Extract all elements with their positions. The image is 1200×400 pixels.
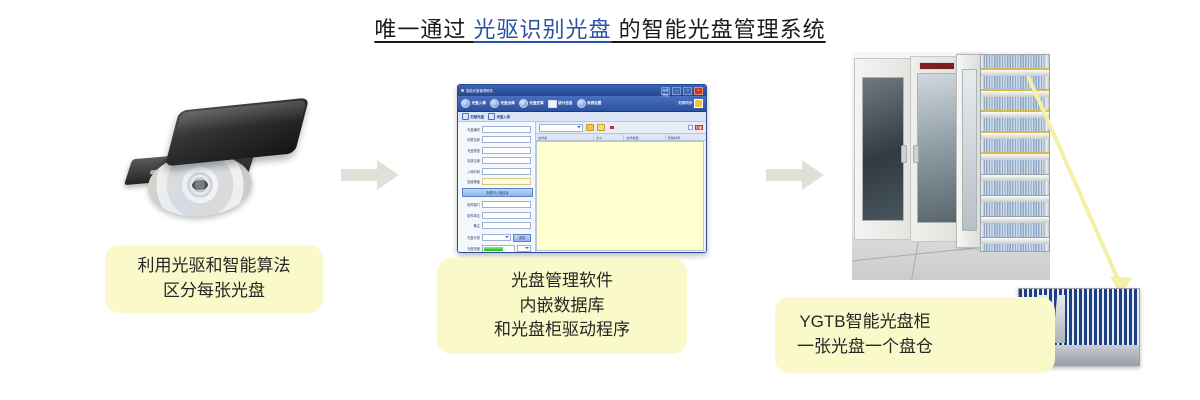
file-browser-panel: 只读 文件名 大小 文件类型 修改时间 — [536, 122, 706, 253]
field-label: 光盘分类 — [462, 235, 480, 240]
progress-fill — [484, 247, 503, 252]
page-title: 唯一通过 光驱识别光盘 的智能光盘管理系统 — [0, 12, 1200, 44]
entry-form-panel: 光盘编号 标签名称 光盘类型 存放位置 入库时间 密级等级 刻录写入盘信息 制作… — [458, 122, 536, 253]
door-handle-middle — [913, 145, 919, 163]
app-logo-icon — [461, 89, 464, 92]
glass-door-middle — [917, 73, 957, 223]
toolbar-label: 光盘还库 — [529, 101, 543, 106]
disc-slot-rack — [980, 54, 1050, 252]
sub-toolbar: 扫描光盘 光盘入库 — [458, 112, 706, 122]
disc-in-icon — [461, 99, 470, 108]
toolbar-item-stats[interactable]: 统计信息 — [548, 100, 573, 108]
subbar-label: 光盘入库 — [497, 114, 511, 119]
close-button[interactable]: ✕ — [694, 87, 703, 95]
external-dvd-drive-photo — [112, 102, 312, 222]
field-label: 标签名称 — [462, 137, 480, 142]
toolbar-item-settings[interactable]: 系统设置 — [577, 99, 602, 108]
window-title: 智能光盘管理软件 — [466, 88, 659, 93]
column-header-type: 文件类型 — [624, 135, 665, 140]
disc-return-icon — [519, 99, 528, 108]
drive-body — [165, 98, 310, 167]
form-row-category: 光盘分类 浏览 — [462, 234, 531, 242]
open-door-glass — [962, 69, 977, 231]
location-input[interactable] — [482, 157, 531, 164]
disc-out-icon — [490, 99, 499, 108]
file-list[interactable] — [536, 141, 704, 251]
remark-input[interactable] — [482, 222, 531, 229]
minimize-button[interactable]: — — [672, 87, 681, 95]
disc-type-input[interactable] — [482, 147, 531, 154]
cabinet-name-plate — [919, 62, 955, 70]
shelf-bar — [981, 216, 1049, 223]
form-row: 存放位置 — [462, 157, 531, 164]
disc-progress-bar — [482, 245, 515, 253]
form-row-progress: 光盘进度 — [462, 245, 531, 253]
field-label: 光盘进度 — [462, 246, 480, 251]
shelf-bar — [981, 237, 1049, 244]
field-label: 备注 — [462, 223, 480, 228]
window-title-bar: 智能光盘管理软件 在线状态 — ▭ ✕ — [458, 85, 706, 96]
form-row: 制作部门 — [462, 201, 531, 208]
status-badge: 在线状态 — [661, 87, 670, 95]
shelf-bar — [981, 132, 1049, 139]
callout-box-cabinet: YGTB智能光盘柜 一张光盘一个盘仓 — [775, 297, 1055, 373]
folder-icon[interactable] — [586, 124, 594, 131]
shelf-bar — [981, 195, 1049, 202]
toolbar-item-disc-out[interactable]: 光盘出库 — [490, 99, 515, 108]
readonly-toggle[interactable]: 只读 — [688, 125, 703, 131]
subbar-label: 扫描光盘 — [471, 114, 485, 119]
browse-button[interactable]: 浏览 — [513, 234, 531, 242]
field-label: 光盘编号 — [462, 127, 480, 132]
gear-icon — [577, 99, 586, 108]
form-row: 入库时间 — [462, 168, 531, 175]
door-handle-left — [901, 145, 907, 163]
disc-icon — [488, 113, 495, 120]
cabinet-unit-left — [854, 58, 912, 240]
checkbox-box-icon — [688, 125, 694, 131]
unit-input[interactable] — [482, 212, 531, 219]
shelf-bar — [981, 153, 1049, 160]
shelf-bar — [981, 90, 1049, 97]
flow-arrow-right-2 — [766, 160, 824, 190]
toolbar-label: 光盘入库 — [472, 101, 486, 106]
field-label: 密级等级 — [462, 179, 480, 184]
intake-time-input[interactable] — [482, 168, 531, 175]
toolbar-item-disc-return[interactable]: 光盘还库 — [519, 99, 544, 108]
secrecy-level-input[interactable] — [482, 178, 531, 185]
column-header-filename: 文件名 — [536, 135, 594, 140]
category-select[interactable] — [482, 234, 511, 241]
field-label: 存放位置 — [462, 158, 480, 163]
maximize-button[interactable]: ▭ — [683, 87, 692, 95]
stop-icon[interactable] — [610, 126, 614, 130]
disc-management-software-window: 智能光盘管理软件 在线状态 — ▭ ✕ 光盘入库 光盘出库 光盘还库 统计信息 … — [457, 84, 707, 253]
dept-input[interactable] — [482, 201, 531, 208]
field-label: 制作部门 — [462, 202, 480, 207]
form-row: 备注 — [462, 222, 531, 229]
toolbar-item-burn-sync[interactable]: 刻录同步 — [678, 99, 703, 108]
field-label: 光盘类型 — [462, 148, 480, 153]
column-header-modified: 修改时间 — [666, 135, 706, 140]
write-disc-info-button[interactable]: 刻录写入盘信息 — [462, 188, 533, 197]
shelf-bar — [981, 69, 1049, 76]
main-toolbar: 光盘入库 光盘出库 光盘还库 统计信息 系统设置 刻录同步 — [458, 96, 706, 112]
title-prefix: 唯一通过 — [374, 17, 473, 42]
form-row: 光盘编号 — [462, 126, 531, 133]
title-highlight: 光驱识别光盘 — [473, 17, 611, 42]
flow-arrow-right-1 — [341, 160, 399, 190]
toolbar-label: 系统设置 — [587, 101, 601, 106]
shelf-bar — [981, 111, 1049, 118]
column-header-size: 大小 — [594, 135, 624, 140]
readonly-label: 只读 — [695, 125, 703, 130]
subbar-item-disc-in[interactable]: 光盘入库 — [488, 113, 510, 120]
stats-icon — [548, 100, 557, 108]
form-row: 制作单位 — [462, 212, 531, 219]
shelf-bar — [981, 174, 1049, 181]
file-browser-toolbar: 只读 — [536, 122, 706, 133]
field-label: 入库时间 — [462, 169, 480, 174]
window-controls: — ▭ ✕ — [672, 87, 703, 95]
toolbar-item-disc-in[interactable]: 光盘入库 — [461, 99, 486, 108]
disc-id-input[interactable] — [482, 126, 531, 133]
callout-box-software: 光盘管理软件 内嵌数据库 和光盘柜驱动程序 — [437, 258, 687, 354]
toolbar-label: 刻录同步 — [678, 101, 692, 106]
form-row: 标签名称 — [462, 136, 531, 143]
label-name-input[interactable] — [482, 136, 531, 143]
burn-icon — [694, 99, 703, 108]
title-suffix: 的智能光盘管理系统 — [612, 17, 826, 42]
slot-stepper[interactable] — [517, 245, 531, 252]
path-select[interactable] — [539, 124, 583, 132]
toolbar-label: 光盘出库 — [500, 101, 514, 106]
scan-icon — [462, 113, 469, 120]
glass-door-left — [862, 77, 904, 221]
file-list-header: 文件名 大小 文件类型 修改时间 — [536, 133, 706, 141]
form-row: 光盘类型 — [462, 147, 531, 154]
slide-canvas: 唯一通过 光驱识别光盘 的智能光盘管理系统 智能光盘管理软件 在线状态 — ▭ … — [0, 0, 1200, 400]
callout-box-drive: 利用光驱和智能算法 区分每张光盘 — [105, 245, 323, 313]
toolbar-label: 统计信息 — [558, 101, 572, 106]
ygtb-disc-cabinet-photo — [852, 52, 1050, 280]
open-cabinet-door — [956, 54, 982, 248]
subbar-item-scan[interactable]: 扫描光盘 — [462, 113, 484, 120]
folder-open-icon[interactable] — [597, 124, 605, 131]
field-label: 制作单位 — [462, 213, 480, 218]
form-row: 密级等级 — [462, 178, 531, 185]
window-body: 光盘编号 标签名称 光盘类型 存放位置 入库时间 密级等级 刻录写入盘信息 制作… — [458, 122, 706, 253]
